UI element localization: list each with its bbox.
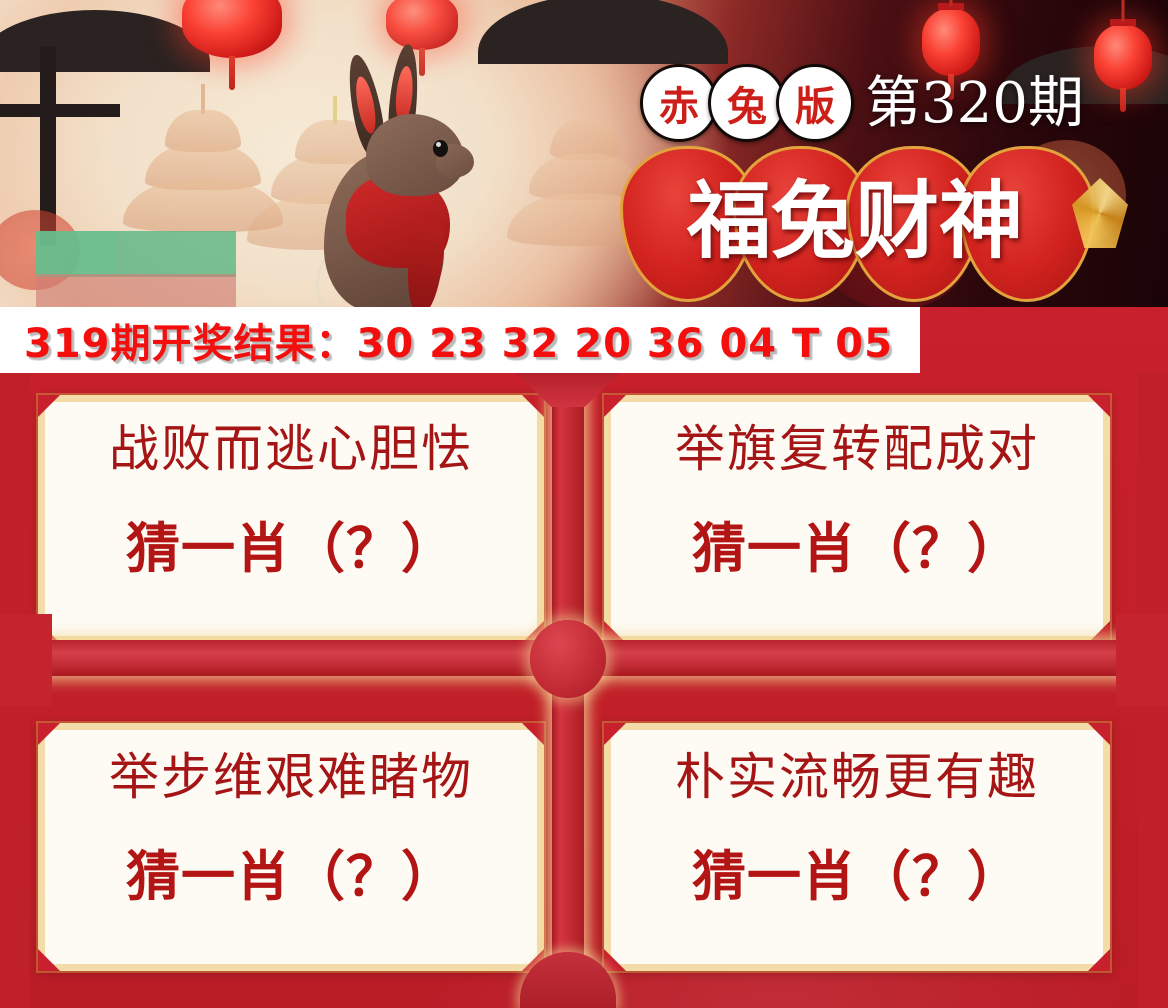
card-corner-notch xyxy=(604,949,626,971)
banner-image: 赤 兔 版 第320期 福兔财神 xyxy=(0,0,1168,310)
card-corner-notch xyxy=(1088,723,1110,745)
censored-overlay xyxy=(36,274,236,308)
guess-prompt: 猜一肖（？） xyxy=(611,850,1103,904)
guess-prompt: 猜一肖（？） xyxy=(45,522,537,576)
guess-prompt: 猜一肖（？） xyxy=(45,850,537,904)
right-edge-bulge xyxy=(1116,614,1168,706)
card-corner-notch xyxy=(38,949,60,971)
title-block: 赤 兔 版 第320期 福兔财神 xyxy=(620,60,1120,310)
edition-badge: 赤 兔 版 xyxy=(640,64,844,142)
card-corner-notch xyxy=(522,723,544,745)
poster-title: 福兔财神 xyxy=(620,146,1090,296)
edition-badge-char: 版 xyxy=(776,64,854,142)
edition-badge-char: 赤 xyxy=(640,64,718,142)
rabbit-illustration-icon xyxy=(290,40,490,310)
pagoda-roof-icon xyxy=(478,0,728,64)
pagoda-roof-icon xyxy=(0,10,210,72)
title-cloud-shape: 福兔财神 xyxy=(620,146,1090,296)
riddle-text: 朴实流畅更有趣 xyxy=(611,752,1103,802)
riddle-text: 举旗复转配成对 xyxy=(611,424,1103,474)
torii-beam-icon xyxy=(0,104,120,117)
riddle-text: 战败而逃心胆怯 xyxy=(45,424,537,474)
issue-number: 第320期 xyxy=(865,76,1084,132)
censored-overlay xyxy=(36,231,116,277)
riddle-card[interactable]: 战败而逃心胆怯 猜一肖（？） xyxy=(38,395,544,643)
riddle-card[interactable]: 朴实流畅更有趣 猜一肖（？） xyxy=(604,723,1110,971)
left-edge-bulge xyxy=(0,614,52,706)
edition-badge-char: 兔 xyxy=(708,64,786,142)
lottery-result-text: 319期开奖结果：30 23 32 20 36 04 T 05 xyxy=(24,311,893,369)
riddle-card[interactable]: 举旗复转配成对 猜一肖（？） xyxy=(604,395,1110,643)
card-corner-notch xyxy=(522,395,544,417)
red-lantern-icon xyxy=(182,0,282,58)
card-corner-notch xyxy=(1088,395,1110,417)
lottery-result-bar: 319期开奖结果：30 23 32 20 36 04 T 05 xyxy=(0,307,920,373)
riddle-card[interactable]: 举步维艰难睹物 猜一肖（？） xyxy=(38,723,544,971)
guess-prompt: 猜一肖（？） xyxy=(611,522,1103,576)
poster-root: 赤 兔 版 第320期 福兔财神 319期开奖结果：30 23 32 20 36… xyxy=(0,0,1168,1008)
ribbon-knot-icon xyxy=(530,620,606,698)
riddle-text: 举步维艰难睹物 xyxy=(45,752,537,802)
